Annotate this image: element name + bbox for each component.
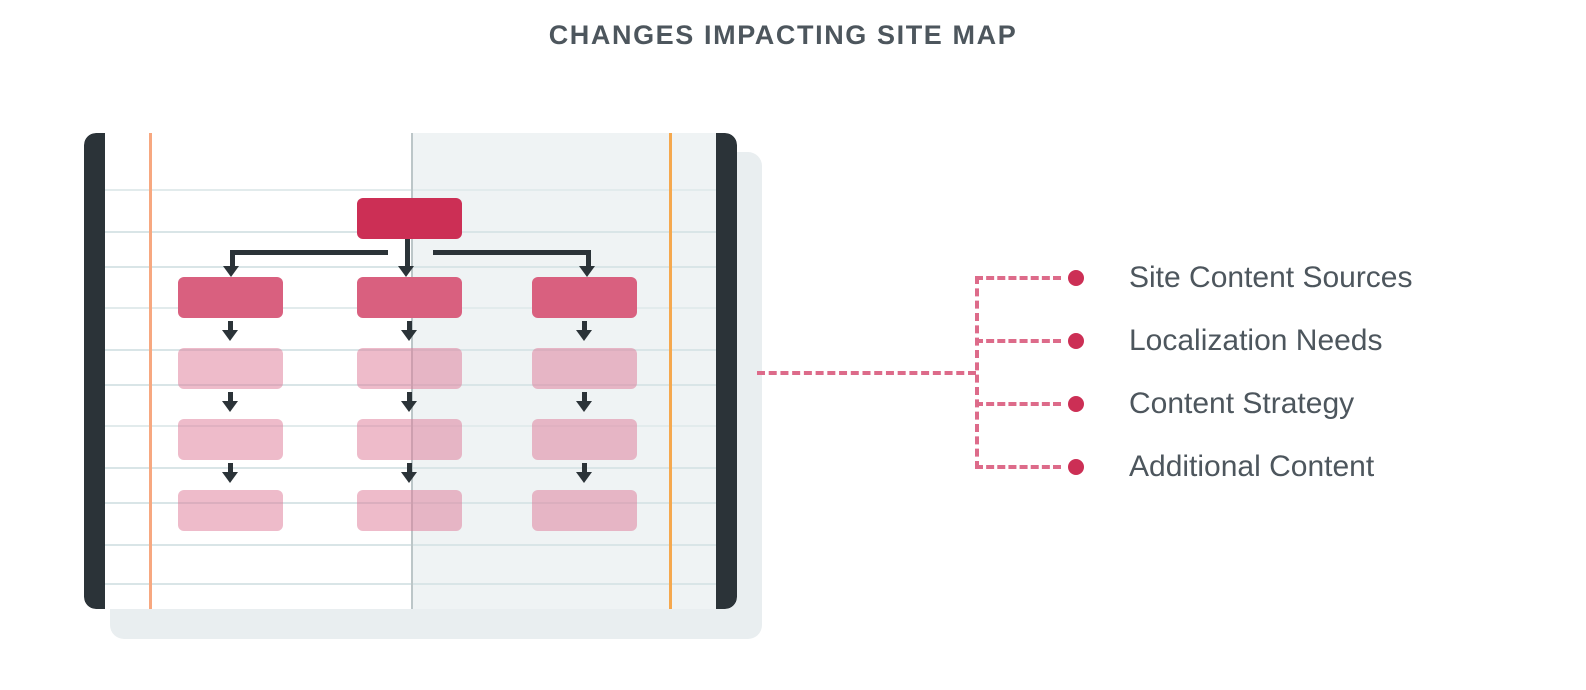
legend-label-3: Content Strategy (1129, 389, 1354, 419)
legend-branch-2 (975, 339, 1061, 343)
legend-connector-stem (757, 371, 976, 375)
flow-node-col3-tier3[interactable] (532, 348, 637, 389)
flow-arrow-col2-tier3 (401, 330, 417, 341)
legend-bullet-1 (1068, 270, 1084, 286)
flow-arrow-col3-tier4 (576, 401, 592, 412)
notebook-illustration (0, 0, 800, 690)
flow-arrow-col2-tier4 (401, 401, 417, 412)
flow-connector-leg-col2 (405, 239, 410, 268)
flow-node-col3-tier5[interactable] (532, 490, 637, 531)
flow-node-col1-tier4[interactable] (178, 419, 283, 460)
flow-arrow-col2-tier2 (398, 266, 414, 277)
flow-node-col3-tier2[interactable] (532, 277, 637, 318)
flow-arrow-col3-tier2 (579, 266, 595, 277)
legend: Site Content Sources Localization Needs … (740, 0, 1586, 690)
legend-connector-trunk (975, 276, 979, 469)
flow-arrow-col1-tier2 (223, 266, 239, 277)
legend-bullet-3 (1068, 396, 1084, 412)
flow-arrow-col1-tier5 (222, 472, 238, 483)
flow-node-root[interactable] (357, 198, 462, 239)
flow-node-col2-tier4[interactable] (357, 419, 462, 460)
legend-bullet-4 (1068, 459, 1084, 475)
flow-node-col3-tier4[interactable] (532, 419, 637, 460)
flow-node-col1-tier5[interactable] (178, 490, 283, 531)
legend-branch-4 (975, 465, 1061, 469)
legend-label-4: Additional Content (1129, 452, 1374, 482)
flow-node-col1-tier3[interactable] (178, 348, 283, 389)
flow-arrow-col3-tier5 (576, 472, 592, 483)
flow-node-col1-tier2[interactable] (178, 277, 283, 318)
legend-branch-3 (975, 402, 1061, 406)
flow-arrow-col1-tier3 (222, 330, 238, 341)
flow-node-col2-tier2[interactable] (357, 277, 462, 318)
flow-connector-horizontal-left (230, 250, 388, 255)
legend-branch-1 (975, 276, 1061, 280)
flow-node-col2-tier3[interactable] (357, 348, 462, 389)
legend-label-1: Site Content Sources (1129, 263, 1413, 293)
flow-arrow-col3-tier3 (576, 330, 592, 341)
flow-arrow-col1-tier4 (222, 401, 238, 412)
legend-label-2: Localization Needs (1129, 326, 1383, 356)
legend-bullet-2 (1068, 333, 1084, 349)
flow-connector-horizontal-right (433, 250, 591, 255)
flow-node-col2-tier5[interactable] (357, 490, 462, 531)
site-map-flow-diagram (84, 133, 737, 609)
flow-arrow-col2-tier5 (401, 472, 417, 483)
